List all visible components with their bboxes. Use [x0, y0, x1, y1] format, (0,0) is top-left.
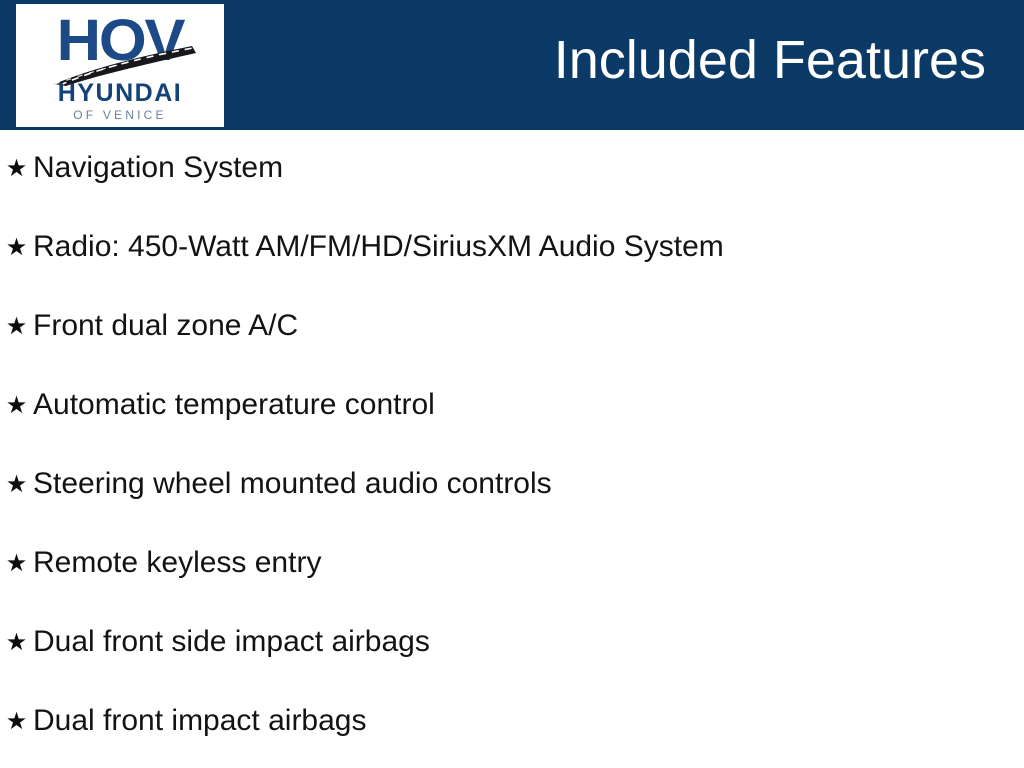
star-bullet-icon: ★ — [0, 467, 33, 501]
dealer-logo: HOV HYUNDAI OF VENICE — [16, 4, 224, 127]
feature-label: Radio: 450-Watt AM/FM/HD/SiriusXM Audio … — [33, 230, 724, 264]
logo-inner: HOV HYUNDAI OF VENICE — [16, 4, 224, 127]
list-item: ★Remote keyless entry — [0, 525, 1024, 604]
list-item: ★Dual front impact airbags — [0, 683, 1024, 762]
list-item: ★Radio: 450-Watt AM/FM/HD/SiriusXM Audio… — [0, 209, 1024, 288]
page-title: Included Features — [554, 28, 986, 92]
star-bullet-icon: ★ — [0, 625, 33, 659]
feature-label: Front dual zone A/C — [33, 309, 298, 343]
feature-label: Steering wheel mounted audio controls — [33, 467, 552, 501]
feature-label: Dual front impact airbags — [33, 704, 367, 738]
star-bullet-icon: ★ — [0, 309, 33, 343]
logo-hov-text: HOV — [16, 10, 224, 72]
star-bullet-icon: ★ — [0, 388, 33, 422]
logo-hyundai-text: HYUNDAI — [16, 80, 224, 107]
feature-label: Dual front side impact airbags — [33, 625, 430, 659]
list-item: ★Dual front side impact airbags — [0, 604, 1024, 683]
feature-label: Automatic temperature control — [33, 388, 435, 422]
feature-label: Navigation System — [33, 151, 283, 185]
feature-label: Remote keyless entry — [33, 546, 321, 580]
list-item: ★Steering wheel mounted audio controls — [0, 446, 1024, 525]
star-bullet-icon: ★ — [0, 704, 33, 738]
logo-of-venice-text: OF VENICE — [16, 108, 224, 122]
list-item: ★Automatic temperature control — [0, 367, 1024, 446]
star-bullet-icon: ★ — [0, 546, 33, 580]
feature-list: ★Navigation System★Radio: 450-Watt AM/FM… — [0, 130, 1024, 768]
list-item: ★Front dual zone A/C — [0, 288, 1024, 367]
star-bullet-icon: ★ — [0, 151, 33, 185]
slide-header: HOV HYUNDAI OF VENICE Included Features — [0, 0, 1024, 130]
list-item: ★Navigation System — [0, 130, 1024, 209]
star-bullet-icon: ★ — [0, 230, 33, 264]
